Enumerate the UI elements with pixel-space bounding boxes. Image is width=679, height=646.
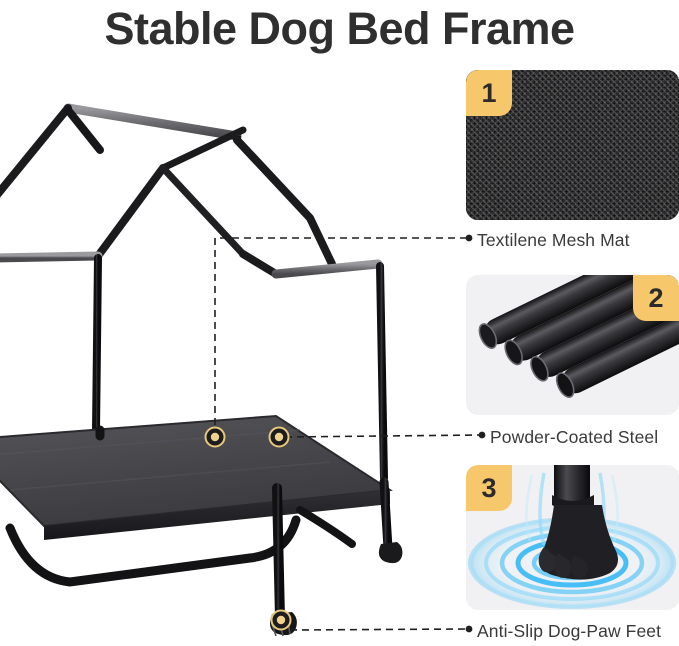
canopy-rafter-front-right-upper xyxy=(163,130,243,168)
canopy-eave-right xyxy=(276,264,378,274)
bed-leg-right xyxy=(384,482,388,548)
feature-panel-2: 2 xyxy=(466,275,679,415)
feature-caption-3: Anti-Slip Dog-Paw Feet xyxy=(477,621,661,642)
feature-caption-2: Powder-Coated Steel xyxy=(490,427,658,448)
canopy-brace-joint xyxy=(243,254,276,274)
leader-dot-2 xyxy=(479,432,486,439)
leg-tube xyxy=(554,465,590,501)
feature-panel-1: 1 xyxy=(466,70,679,220)
feature-badge-1: 1 xyxy=(466,70,512,116)
page-title: Stable Dog Bed Frame xyxy=(0,0,679,58)
canopy-rafter-right xyxy=(237,140,332,264)
canopy-post-left xyxy=(96,258,98,430)
leader-dot-1 xyxy=(466,235,473,242)
feature-panel-3: 3 xyxy=(466,465,679,610)
feature-badge-2: 2 xyxy=(633,275,679,321)
canopy-rafter-far-left xyxy=(0,108,68,228)
canopy-rafter-front-left xyxy=(98,168,163,256)
canopy-eave-left xyxy=(0,256,98,258)
canopy-ridge-bar xyxy=(68,108,237,136)
canopy-cross-brace xyxy=(163,168,243,254)
canopy-post-right xyxy=(380,266,384,478)
product-illustration xyxy=(0,58,455,646)
feature-caption-1: Textilene Mesh Mat xyxy=(477,230,630,251)
bed-support-bar-right xyxy=(300,510,352,544)
leader-dot-3 xyxy=(466,626,473,633)
bed-leg-center xyxy=(277,488,280,618)
paw-foot-right xyxy=(379,542,403,563)
dog-bed-frame-drawing xyxy=(0,58,455,646)
feature-badge-3: 3 xyxy=(466,465,512,511)
